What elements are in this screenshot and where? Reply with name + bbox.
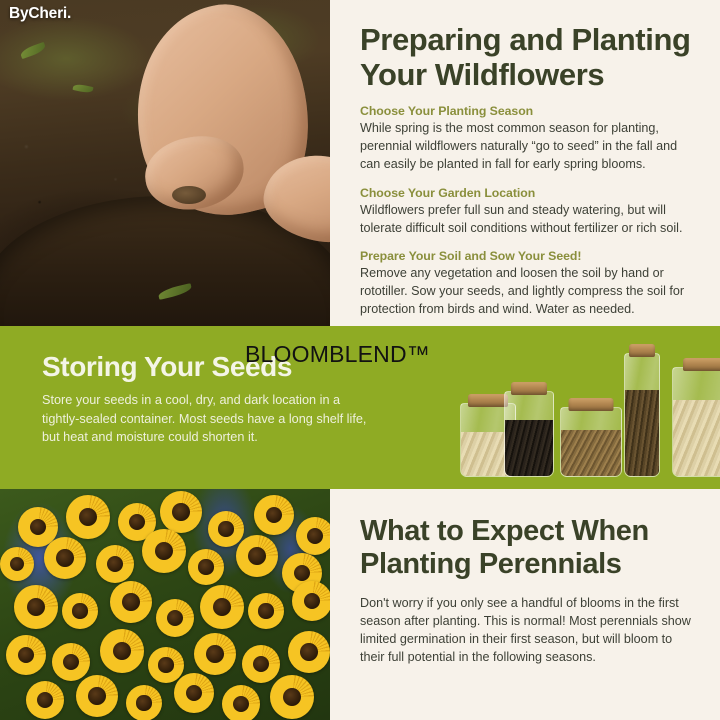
body-planting-season: While spring is the most common season f… [360, 120, 698, 174]
flower-head [52, 643, 90, 681]
bycheri-logo: ByCheri. [9, 5, 71, 23]
flower-head [110, 581, 152, 623]
cork-lid [629, 344, 655, 357]
cork-lid [569, 398, 614, 411]
flower-head [142, 529, 186, 573]
section-preparing-planting: ByCheri. Preparing and Planting Your Wil… [0, 0, 720, 326]
flower-head [222, 685, 260, 720]
flower-head [288, 631, 330, 673]
flower-head [126, 685, 162, 720]
expect-content: What to Expect When Planting Perennials … [330, 489, 720, 720]
flower-head [188, 549, 224, 585]
flower-head [100, 629, 144, 673]
glass-body [624, 353, 660, 477]
flower-head [6, 635, 46, 675]
flower-cluster [0, 489, 330, 720]
flower-head [208, 511, 244, 547]
flower-head [174, 673, 214, 713]
body-garden-location: Wildflowers prefer full sun and steady w… [360, 202, 698, 238]
cork-lid [511, 382, 547, 395]
flower-head [236, 535, 278, 577]
flower-head [76, 675, 118, 717]
expect-body: Don't worry if you only see a handful of… [360, 595, 698, 667]
seed-fill [625, 390, 659, 476]
jar-5-large-petals [672, 367, 720, 477]
infographic-root: ByCheri. Preparing and Planting Your Wil… [0, 0, 720, 720]
flower-head [14, 585, 58, 629]
flower-head [62, 593, 98, 629]
subheading-planting-season: Choose Your Planting Season [360, 104, 698, 118]
flower-head [26, 681, 64, 719]
flower-head [44, 537, 86, 579]
glass-body [672, 367, 720, 477]
cork-lid [468, 394, 508, 407]
seed-fill [561, 430, 621, 476]
flower-head [156, 599, 194, 637]
jar-3-fine-seeds [560, 407, 622, 477]
block-garden-location: Choose Your Garden Location Wildflowers … [360, 186, 698, 238]
page-title: Preparing and Planting Your Wildflowers [360, 22, 698, 92]
flower-head [292, 581, 330, 621]
glass-body [560, 407, 622, 477]
flower-head [296, 517, 330, 555]
flower-head [254, 495, 294, 535]
expect-title-line-1: What to Expect When [360, 515, 649, 547]
cork-lid [683, 358, 720, 371]
flower-head [66, 495, 110, 539]
preparing-content: Preparing and Planting Your Wildflowers … [330, 0, 720, 326]
subheading-garden-location: Choose Your Garden Location [360, 186, 698, 200]
photo-perennial-flowers [0, 489, 330, 720]
storing-body: Store your seeds in a cool, dry, and dar… [42, 391, 372, 446]
flower-head [160, 491, 202, 533]
flower-head [148, 647, 184, 683]
block-prepare-soil: Prepare Your Soil and Sow Your Seed! Rem… [360, 249, 698, 319]
seed-fill [673, 400, 720, 476]
flower-head [270, 675, 314, 719]
photo-seed-jars [400, 326, 720, 489]
flower-head [0, 547, 34, 581]
body-prepare-soil: Remove any vegetation and loosen the soi… [360, 265, 698, 319]
jar-2-dark-seeds [504, 391, 554, 477]
expect-title: What to Expect When Planting Perennials [360, 515, 698, 581]
photo-hands-sowing-seeds: ByCheri. [0, 0, 330, 326]
page-title-line-1: Preparing and Planting [360, 22, 691, 57]
flower-head [242, 645, 280, 683]
flower-head [96, 545, 134, 583]
flower-head [200, 585, 244, 629]
subheading-prepare-soil: Prepare Your Soil and Sow Your Seed! [360, 249, 698, 263]
block-planting-season: Choose Your Planting Season While spring… [360, 104, 698, 174]
section-what-to-expect: What to Expect When Planting Perennials … [0, 489, 720, 720]
seeds-in-hand [172, 186, 206, 204]
flower-head [248, 593, 284, 629]
page-title-line-2: Your Wildflowers [360, 57, 604, 92]
glass-body [504, 391, 554, 477]
flower-head [194, 633, 236, 675]
seed-fill [505, 420, 553, 476]
jar-4-tall-tube [624, 353, 660, 477]
bloomblend-watermark: BLOOMBLEND™ [245, 341, 430, 368]
expect-title-line-2: Planting Perennials [360, 548, 622, 580]
